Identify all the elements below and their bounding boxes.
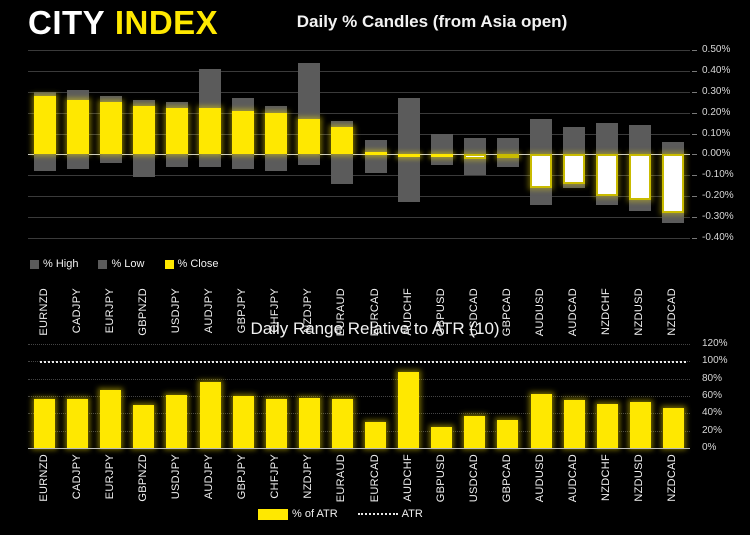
legend-dotted-line-icon	[358, 513, 398, 515]
chart2-y-tick-label: 20%	[702, 425, 722, 436]
chart2-gridline	[28, 413, 690, 414]
chart1-legend: % High% Low% Close	[30, 258, 232, 270]
chart2-y-tick-label: 0%	[702, 442, 716, 453]
chart1-y-tick-label: -0.10%	[702, 169, 734, 180]
candle-body-positive	[331, 127, 353, 154]
candle-body-positive	[431, 154, 453, 157]
legend-swatch-atr-icon	[258, 509, 288, 520]
atr-percent-bar	[166, 395, 187, 448]
chart2-y-tick-label: 60%	[702, 390, 722, 401]
atr-percent-bar	[663, 408, 684, 448]
chart1-x-tick-label: CADJPY	[71, 288, 83, 333]
chart2-x-tick-label: AUDJPY	[203, 454, 215, 499]
candle-body-negative	[563, 154, 585, 183]
brand-city-text: CITY	[28, 4, 105, 41]
chart2-x-tick-label: CHFJPY	[269, 454, 281, 499]
chart1-y-tick-label: 0.50%	[702, 44, 730, 55]
legend-label: ATR	[402, 508, 423, 520]
chart2-y-tick-label: 100%	[702, 355, 728, 366]
chart2-x-tick-label: GBPUSD	[435, 454, 447, 502]
candle-body-positive	[34, 96, 56, 154]
candle-body-negative	[497, 154, 519, 158]
chart1-tick-mark	[692, 92, 697, 93]
chart1-zero-line	[28, 154, 690, 155]
chart1-x-tick-label: NZDUSD	[633, 288, 645, 336]
legend-swatch-gray-icon	[30, 260, 39, 269]
candle-range-bar	[497, 138, 519, 167]
chart1-y-tick-label: -0.40%	[702, 232, 734, 243]
atr-percent-bar	[34, 399, 55, 448]
atr-percent-bar	[431, 427, 452, 448]
chart2-x-tick-label: AUDCHF	[402, 454, 414, 502]
chart1-x-tick-label: NZDCHF	[600, 288, 612, 335]
chart2-legend: % of ATRATR	[258, 508, 437, 520]
candle-body-positive	[166, 108, 188, 154]
candle-body-positive	[232, 111, 254, 155]
candle-body-positive	[67, 100, 89, 154]
chart1-tick-mark	[692, 134, 697, 135]
atr-percent-bar	[531, 394, 552, 448]
legend-item[interactable]: % Low	[98, 258, 144, 270]
chart1-tick-mark	[692, 217, 697, 218]
chart1-gridline	[28, 71, 690, 72]
chart1-gridline	[28, 92, 690, 93]
candle-body-negative	[530, 154, 552, 187]
atr-percent-bar	[564, 400, 585, 448]
atr-percent-bar	[233, 396, 254, 448]
chart1-tick-mark	[692, 238, 697, 239]
legend-item[interactable]: % High	[30, 258, 78, 270]
candle-range-bar	[398, 98, 420, 202]
brand-index-text: INDEX	[115, 4, 218, 41]
chart1-tick-mark	[692, 175, 697, 176]
candle-body-positive	[199, 108, 221, 154]
chart1-y-tick-label: 0.30%	[702, 86, 730, 97]
chart1-gridline	[28, 50, 690, 51]
chart1-gridline	[28, 196, 690, 197]
atr-percent-bar	[133, 405, 154, 448]
page-header: CITY INDEX Daily % Candles (from Asia op…	[0, 0, 750, 46]
chart1-gridline	[28, 113, 690, 114]
chart1-x-tick-label: GBPNZD	[137, 288, 149, 336]
atr-percent-bar	[266, 399, 287, 448]
legend-label: % Low	[111, 258, 144, 270]
chart2-x-tick-label: GBPCAD	[501, 454, 513, 502]
candle-body-negative	[629, 154, 651, 200]
atr-percent-bar	[597, 404, 618, 448]
chart1-x-tick-label: EURNZD	[38, 288, 50, 336]
chart1-y-tick-label: 0.00%	[702, 148, 730, 159]
chart1-gridline	[28, 175, 690, 176]
chart1-tick-mark	[692, 50, 697, 51]
legend-label: % High	[43, 258, 78, 270]
chart2-gridline	[28, 379, 690, 380]
chart1-x-tick-label: NZDCAD	[666, 288, 678, 336]
legend-swatch-close-icon	[165, 260, 174, 269]
chart2-x-tick-label: AUDCAD	[567, 454, 579, 502]
chart1-gridline	[28, 134, 690, 135]
chart2-x-tick-label: USDJPY	[170, 454, 182, 499]
chart2-baseline	[28, 448, 690, 449]
candle-body-positive	[398, 154, 420, 157]
candle-range-bar	[365, 140, 387, 173]
candle-body-positive	[133, 106, 155, 154]
brand-logo: CITY INDEX	[28, 4, 218, 42]
chart2-x-tick-label: GBPJPY	[236, 454, 248, 499]
legend-label: % of ATR	[292, 508, 338, 520]
chart2-x-tick-label: NZDUSD	[633, 454, 645, 502]
atr-percent-bar	[365, 422, 386, 448]
chart2-x-tick-label: EURNZD	[38, 454, 50, 502]
chart1-y-tick-label: 0.10%	[702, 128, 730, 139]
legend-item[interactable]: % of ATR	[258, 508, 338, 520]
candle-range-bar	[431, 134, 453, 165]
atr-percent-bar	[630, 402, 651, 448]
chart1-plot-area	[28, 50, 690, 238]
atr-percent-bar	[67, 399, 88, 448]
chart1-tick-mark	[692, 154, 697, 155]
chart1-gridline	[28, 217, 690, 218]
chart1-title: Daily % Candles (from Asia open)	[232, 12, 632, 32]
atr-percent-bar	[497, 420, 518, 448]
legend-item[interactable]: ATR	[358, 508, 423, 520]
chart2-gridline	[28, 396, 690, 397]
atr-percent-bar	[200, 382, 221, 448]
chart1-tick-mark	[692, 113, 697, 114]
atr-percent-bar	[100, 390, 121, 448]
candle-body-negative	[596, 154, 618, 196]
atr-percent-bar	[332, 399, 353, 448]
candle-body-positive	[265, 113, 287, 155]
legend-swatch-gray-icon	[98, 260, 107, 269]
atr-percent-bar	[299, 398, 320, 448]
chart1-tick-mark	[692, 71, 697, 72]
chart2-x-tick-label: GBPNZD	[137, 454, 149, 502]
chart2-y-tick-label: 40%	[702, 407, 722, 418]
atr-percent-bar	[398, 372, 419, 448]
chart2-x-tick-label: USDCAD	[468, 454, 480, 502]
candle-body-positive	[365, 152, 387, 155]
chart2-title: Daily Range Relative to ATR (10)	[175, 319, 575, 339]
chart2-y-tick-label: 120%	[702, 338, 728, 349]
atr-reference-line	[40, 361, 686, 363]
chart1-gridline	[28, 238, 690, 239]
candle-body-positive	[298, 119, 320, 155]
daily-range-atr-chart: 120%100%80%60%40%20%0% EURNZDCADJPYEURJP…	[0, 340, 750, 535]
chart2-x-tick-label: EURCAD	[369, 454, 381, 502]
chart2-plot-area	[28, 344, 690, 448]
candle-body-positive	[100, 102, 122, 154]
chart2-x-tick-label: AUDUSD	[534, 454, 546, 502]
atr-percent-bar	[464, 416, 485, 448]
candle-body-negative	[662, 154, 684, 212]
chart2-gridline	[28, 344, 690, 345]
chart2-y-tick-label: 80%	[702, 373, 722, 384]
chart1-y-tick-label: 0.20%	[702, 107, 730, 118]
chart2-x-tick-label: NZDJPY	[302, 454, 314, 499]
chart1-y-tick-label: -0.30%	[702, 211, 734, 222]
chart2-x-tick-label: EURAUD	[335, 454, 347, 502]
chart2-x-tick-label: NZDCAD	[666, 454, 678, 502]
chart2-x-tick-label: NZDCHF	[600, 454, 612, 501]
candle-body-negative	[464, 154, 486, 158]
legend-label: % Close	[178, 258, 219, 270]
chart1-x-tick-label: EURJPY	[104, 288, 116, 333]
chart1-y-tick-label: 0.40%	[702, 65, 730, 76]
chart1-y-tick-label: -0.20%	[702, 190, 734, 201]
daily-percent-candles-chart: 0.50%0.40%0.30%0.20%0.10%0.00%-0.10%-0.2…	[0, 46, 750, 316]
chart1-tick-mark	[692, 196, 697, 197]
legend-item[interactable]: % Close	[165, 258, 219, 270]
chart2-x-tick-label: EURJPY	[104, 454, 116, 499]
chart2-x-tick-label: CADJPY	[71, 454, 83, 499]
chart2-gridline	[28, 431, 690, 432]
